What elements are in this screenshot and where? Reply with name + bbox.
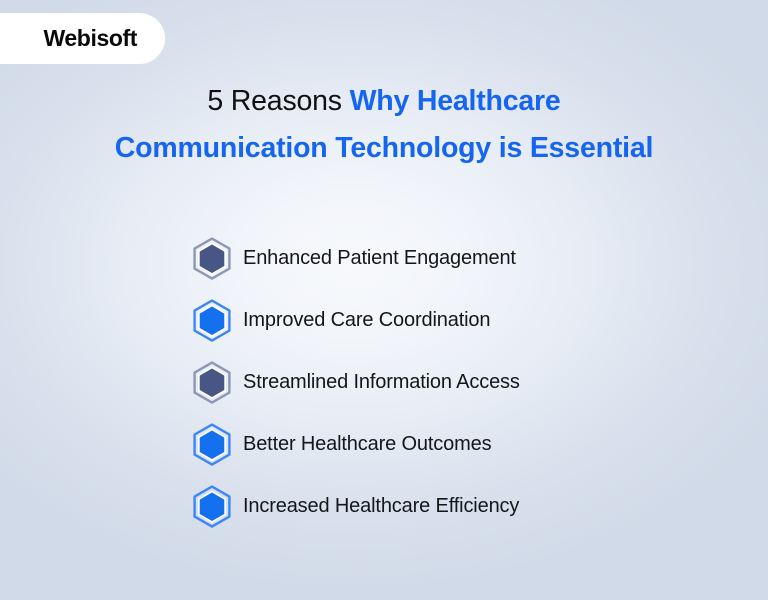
list-item: Better Healthcare Outcomes xyxy=(190,422,710,466)
page-title-line-2: Communication Technology is Essential xyxy=(0,125,768,172)
list-item-label: Improved Care Coordination xyxy=(243,309,490,332)
page-title-accent-part-1: Why Healthcare xyxy=(350,85,561,117)
list-item: Streamlined Information Access xyxy=(190,360,710,404)
list-item-label: Better Healthcare Outcomes xyxy=(243,433,491,456)
reason-list: Enhanced Patient EngagementImproved Care… xyxy=(190,236,710,546)
infographic-slide: Webisoft 5 Reasons Why Healthcare Commun… xyxy=(0,0,768,600)
page-title-accent-part-2: Communication Technology is Essential xyxy=(115,132,653,164)
brand-logo-text: Webisoft xyxy=(44,27,137,50)
hexagon-bullet-icon xyxy=(190,422,234,466)
page-title: 5 Reasons Why Healthcare Communication T… xyxy=(0,78,768,172)
list-item-label: Enhanced Patient Engagement xyxy=(243,247,516,270)
list-item: Increased Healthcare Efficiency xyxy=(190,484,710,528)
list-item: Improved Care Coordination xyxy=(190,298,710,342)
hexagon-bullet-icon xyxy=(190,484,234,528)
list-item-label: Streamlined Information Access xyxy=(243,371,520,394)
hexagon-bullet-icon xyxy=(190,360,234,404)
page-title-plain-part: 5 Reasons xyxy=(207,85,349,117)
list-item: Enhanced Patient Engagement xyxy=(190,236,710,280)
brand-logo-badge: Webisoft xyxy=(0,13,165,64)
hexagon-bullet-icon xyxy=(190,298,234,342)
page-title-line-1: 5 Reasons Why Healthcare xyxy=(0,78,768,125)
hexagon-bullet-icon xyxy=(190,236,234,280)
list-item-label: Increased Healthcare Efficiency xyxy=(243,495,519,518)
